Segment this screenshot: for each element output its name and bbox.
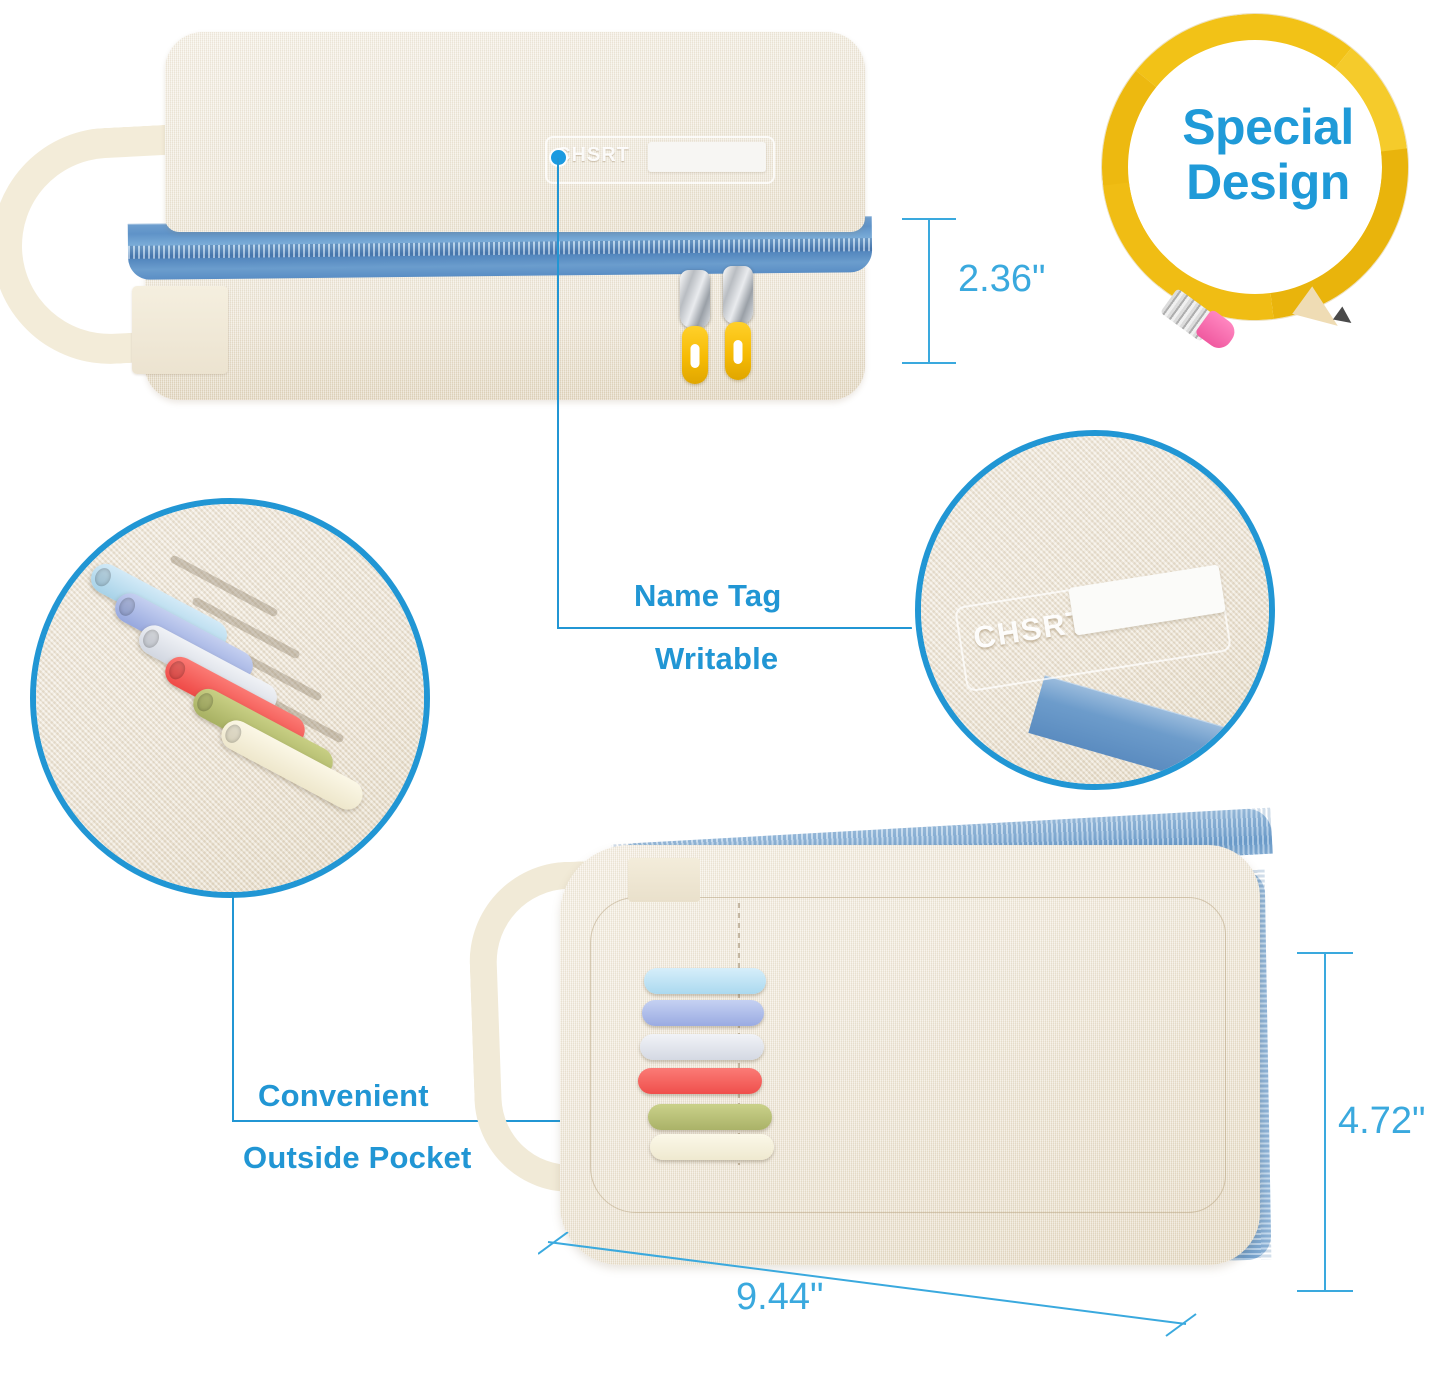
pocket-cap-light-blue [644, 968, 766, 994]
zipper-teeth [1219, 870, 1272, 1261]
light-blue-zipper-right [1219, 870, 1272, 1261]
canvas-texture [145, 258, 865, 400]
callout-dot-outside-pocket [664, 1114, 679, 1129]
dim-label-width: 9.44" [736, 1276, 823, 1319]
dimension-width-9-44: 9.44" [538, 1232, 1198, 1342]
badge-line-2: Design [1118, 155, 1418, 210]
case-lower-body [145, 258, 865, 400]
dim-line-vertical [1324, 952, 1326, 1290]
dim-line-vertical [928, 218, 930, 364]
dim-label-depth: 4.72" [1338, 1100, 1425, 1143]
special-design-badge: Special Design [1060, 4, 1445, 394]
dim-cap-bottom [1297, 1290, 1353, 1292]
pocket-cap-coral-red [638, 1068, 762, 1094]
callout-label-pocket-line2: Outside Pocket [243, 1140, 471, 1176]
pocket-cap-periwinkle [642, 1000, 764, 1026]
carry-handle-strap-bottom [466, 859, 667, 1195]
canvas-texture [560, 845, 1260, 1265]
case-lid [165, 32, 865, 232]
dim-label-height: 2.36" [958, 258, 1045, 301]
pocket-stitch-seam [738, 903, 740, 1165]
zipper-teeth [611, 808, 1273, 891]
zipper-slider-left [680, 270, 710, 328]
product-photo-top-closed-case: CHSRT [0, 8, 900, 438]
callout-line-name-tag-horizontal [557, 627, 917, 629]
callout-line-pocket-horizontal [232, 1120, 672, 1122]
handle-anchor-tab-bottom [628, 858, 700, 902]
zipper-teeth [128, 238, 872, 258]
dim-cap-bottom [902, 362, 956, 364]
light-blue-zipper-top [611, 808, 1273, 891]
infographic-canvas: CHSRT 2.36" Special Design [0, 0, 1445, 1385]
badge-text-block: Special Design [1118, 100, 1418, 210]
callout-label-name-tag-line2: Writable [655, 641, 778, 677]
detail-circle-pen-loops [30, 498, 430, 898]
callout-label-name-tag-line1: Name Tag [634, 578, 781, 614]
canvas-texture [165, 32, 865, 232]
handle-anchor-tab [132, 286, 228, 374]
callout-line-pocket-vertical [232, 896, 234, 1122]
dim-line-angled-svg [538, 1232, 1198, 1342]
brand-text-top: CHSRT [556, 144, 630, 167]
pocket-cap-white-grey [640, 1034, 764, 1060]
zipper-pull-yellow-right [725, 322, 751, 380]
writable-white-strip [648, 142, 766, 172]
pocket-cap-cream [650, 1134, 774, 1160]
detail-circle-name-tag: CHSRT [915, 430, 1275, 790]
badge-line-1: Special [1118, 100, 1418, 155]
callout-line-name-tag-vertical [557, 158, 559, 628]
callout-label-pocket-line1: Convenient [258, 1078, 429, 1114]
case-body-bottom [560, 845, 1260, 1265]
zipper-slider-right [723, 266, 753, 324]
zipper-pull-yellow-left [682, 326, 708, 384]
outside-pocket-outline [590, 897, 1226, 1213]
